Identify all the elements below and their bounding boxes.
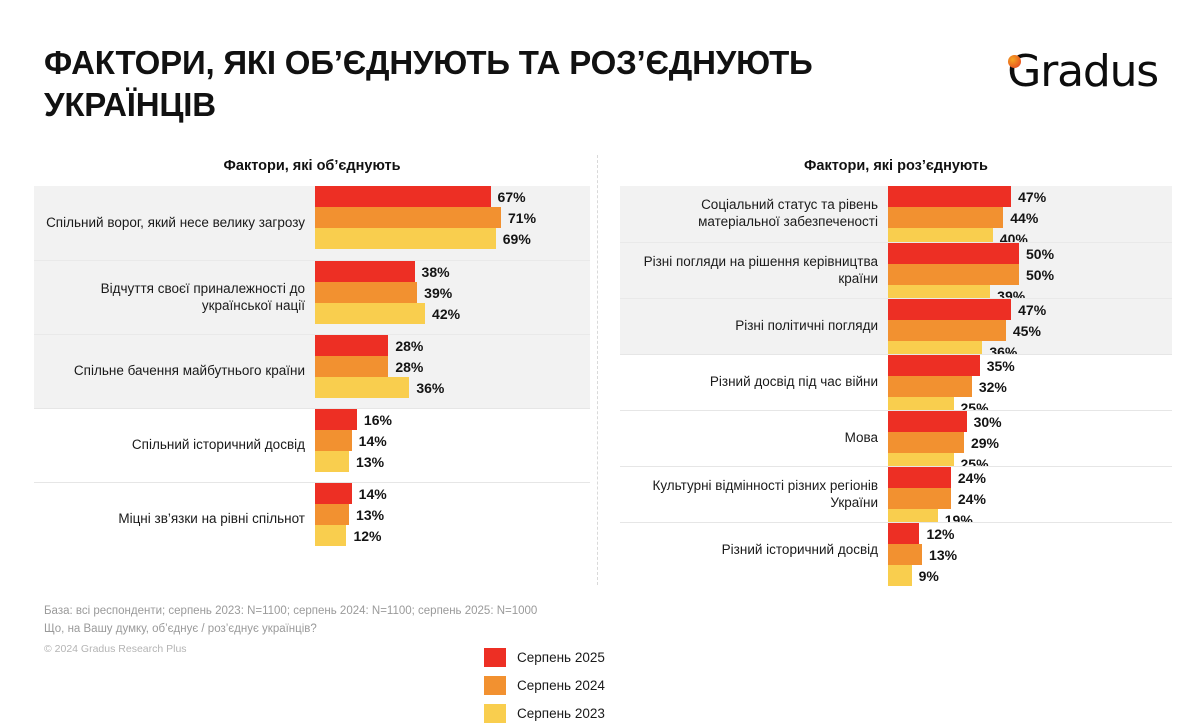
bar-value-label: 50% [1019, 267, 1054, 283]
bar-серпень-2023 [315, 228, 496, 249]
chart-row: Спільний ворог, який несе велику загрозу… [34, 186, 590, 260]
bar-value-label: 29% [964, 435, 999, 451]
bar-value-label: 13% [349, 507, 384, 523]
bar-серпень-2024 [888, 376, 972, 397]
bar-value-label: 28% [388, 359, 423, 375]
bar-line: 28% [315, 335, 590, 356]
bar-line: 13% [888, 544, 1172, 565]
bar-value-label: 39% [417, 285, 452, 301]
chart-row-bars: 35%32%25% [888, 355, 1172, 410]
chart-row: Спільний історичний досвід16%14%13% [34, 408, 590, 482]
bar-value-label: 14% [352, 486, 387, 502]
bar-серпень-2025 [888, 523, 919, 544]
bar-value-label: 38% [415, 264, 450, 280]
bar-line: 50% [888, 243, 1172, 264]
bar-серпень-2025 [888, 355, 980, 376]
bar-value-label: 67% [491, 189, 526, 205]
bar-line: 35% [888, 355, 1172, 376]
chart-rows-uniting: Спільний ворог, який несе велику загрозу… [34, 186, 590, 556]
bar-line: 47% [888, 186, 1172, 207]
bar-серпень-2024 [315, 282, 417, 303]
chart-row-bars: 47%45%36% [888, 299, 1172, 354]
bar-value-label: 69% [496, 231, 531, 247]
bar-line: 71% [315, 207, 590, 228]
bar-value-label: 47% [1011, 189, 1046, 205]
legend-label: Серпень 2023 [517, 706, 605, 721]
bar-серпень-2023 [315, 525, 346, 546]
chart-row: Різний історичний досвід12%13%9% [620, 522, 1172, 578]
bar-серпень-2024 [315, 504, 349, 525]
bar-line: 45% [888, 320, 1172, 341]
bar-line: 30% [888, 411, 1172, 432]
bar-серпень-2024 [888, 432, 964, 453]
bar-серпень-2024 [315, 430, 352, 451]
chart-row: Спільне бачення майбутнього країни28%28%… [34, 334, 590, 408]
bar-серпень-2024 [888, 488, 951, 509]
bar-серпень-2025 [888, 299, 1011, 320]
bar-line: 42% [315, 303, 590, 324]
bar-line: 14% [315, 430, 590, 451]
page-header: ФАКТОРИ, ЯКІ ОБ’ЄДНУЮТЬ ТА РОЗ’ЄДНУЮТЬ У… [0, 0, 1200, 140]
bar-value-label: 36% [409, 380, 444, 396]
bar-серпень-2024 [315, 356, 388, 377]
bar-серпень-2024 [888, 320, 1006, 341]
bar-line: 12% [315, 525, 590, 546]
chart-row-bars: 16%14%13% [315, 409, 590, 482]
bar-line: 44% [888, 207, 1172, 228]
bar-line: 47% [888, 299, 1172, 320]
footer-question-line: Що, на Вашу думку, об’єднує / роз’єднує … [44, 621, 537, 639]
chart-row-label: Спільний ворог, який несе велику загрозу [34, 215, 315, 232]
bar-line: 14% [315, 483, 590, 504]
bar-value-label: 50% [1019, 246, 1054, 262]
chart-row-bars: 28%28%36% [315, 335, 590, 408]
bar-line: 24% [888, 488, 1172, 509]
chart-row-bars: 47%44%40% [888, 186, 1172, 242]
bar-серпень-2025 [888, 411, 967, 432]
logo-wordmark: Gradus [1007, 50, 1158, 94]
chart-row-label: Різний історичний досвід [620, 542, 888, 559]
bar-серпень-2023 [315, 303, 425, 324]
panel-divider [597, 155, 598, 585]
chart-row-label: Спільний історичний досвід [34, 437, 315, 454]
chart-row-bars: 30%29%25% [888, 411, 1172, 466]
bar-серпень-2024 [888, 264, 1019, 285]
bar-серпень-2025 [315, 261, 415, 282]
bar-value-label: 44% [1003, 210, 1038, 226]
bar-line: 38% [315, 261, 590, 282]
chart-rows-dividing: Соціальний статус та рівень матеріальної… [620, 186, 1172, 578]
chart-row-bars: 50%50%39% [888, 243, 1172, 298]
legend-swatch-icon [484, 704, 506, 723]
chart-row: Різні політичні погляди47%45%36% [620, 298, 1172, 354]
chart-row-bars: 12%13%9% [888, 523, 1172, 578]
bar-value-label: 32% [972, 379, 1007, 395]
chart-row-bars: 67%71%69% [315, 186, 590, 260]
gradus-logo: Gradus [994, 38, 1158, 94]
chart-row-label: Відчуття своєї приналежності до українсь… [34, 281, 315, 315]
bar-серпень-2023 [315, 451, 349, 472]
bar-value-label: 28% [388, 338, 423, 354]
chart-row-label: Культурні відмінності різних регіонів Ук… [620, 478, 888, 512]
bar-value-label: 12% [919, 526, 954, 542]
chart-row: Відчуття своєї приналежності до українсь… [34, 260, 590, 334]
bar-line: 9% [888, 565, 1172, 586]
chart-row-label: Різні політичні погляди [620, 318, 888, 335]
legend-label: Серпень 2024 [517, 678, 605, 693]
bar-серпень-2024 [888, 207, 1003, 228]
bar-value-label: 71% [501, 210, 536, 226]
bar-line: 12% [888, 523, 1172, 544]
bar-value-label: 24% [951, 470, 986, 486]
legend-item[interactable]: Серпень 2023 [484, 704, 605, 723]
chart-row-label: Соціальний статус та рівень матеріальної… [620, 197, 888, 231]
bar-серпень-2025 [888, 467, 951, 488]
bar-line: 69% [315, 228, 590, 249]
bar-value-label: 42% [425, 306, 460, 322]
chart-row-bars: 24%24%19% [888, 467, 1172, 522]
footer-copyright: © 2024 Gradus Research Plus [44, 641, 537, 657]
chart-title-dividing: Фактори, які роз’єднують [620, 158, 1172, 176]
chart-row-bars: 38%39%42% [315, 261, 590, 334]
bar-серпень-2023 [888, 565, 912, 586]
bar-серпень-2025 [315, 335, 388, 356]
chart-row-label: Різні погляди на рішення керівництва кра… [620, 254, 888, 288]
bar-value-label: 14% [352, 433, 387, 449]
bar-value-label: 24% [951, 491, 986, 507]
chart-row: Соціальний статус та рівень матеріальної… [620, 186, 1172, 242]
bar-серпень-2025 [315, 409, 357, 430]
bar-value-label: 13% [922, 547, 957, 563]
bar-line: 16% [315, 409, 590, 430]
bar-line: 28% [315, 356, 590, 377]
bar-line: 32% [888, 376, 1172, 397]
bar-value-label: 16% [357, 412, 392, 428]
chart-panel-dividing: Фактори, які роз’єднують Соціальний стат… [620, 158, 1172, 578]
chart-row: Культурні відмінності різних регіонів Ук… [620, 466, 1172, 522]
legend-item[interactable]: Серпень 2024 [484, 676, 605, 695]
bar-value-label: 30% [967, 414, 1002, 430]
chart-row: Різний досвід під час війни35%32%25% [620, 354, 1172, 410]
footer-base-line: База: всі респонденти; серпень 2023: N=1… [44, 603, 537, 621]
bar-серпень-2025 [888, 243, 1019, 264]
chart-row-label: Міцні зв’язки на рівні спільнот [34, 511, 315, 528]
chart-row-label: Спільне бачення майбутнього країни [34, 363, 315, 380]
chart-title-uniting: Фактори, які об’єднують [34, 158, 590, 176]
legend-uniting: Серпень 2025Серпень 2024Серпень 2023 [484, 648, 605, 723]
bar-line: 50% [888, 264, 1172, 285]
chart-panel-uniting: Фактори, які об’єднують Спільний ворог, … [34, 158, 590, 556]
bar-value-label: 45% [1006, 323, 1041, 339]
chart-row: Мова30%29%25% [620, 410, 1172, 466]
bar-серпень-2025 [315, 483, 352, 504]
bar-line: 36% [315, 377, 590, 398]
chart-row-label: Мова [620, 430, 888, 447]
chart-row: Різні погляди на рішення керівництва кра… [620, 242, 1172, 298]
bar-value-label: 12% [346, 528, 381, 544]
bar-line: 39% [315, 282, 590, 303]
bar-line: 24% [888, 467, 1172, 488]
bar-серпень-2023 [315, 377, 409, 398]
bar-line: 13% [315, 504, 590, 525]
bar-line: 29% [888, 432, 1172, 453]
page-title: ФАКТОРИ, ЯКІ ОБ’ЄДНУЮТЬ ТА РОЗ’ЄДНУЮТЬ У… [44, 42, 924, 126]
footer: База: всі респонденти; серпень 2023: N=1… [44, 603, 537, 657]
chart-row-label: Різний досвід під час війни [620, 374, 888, 391]
bar-value-label: 13% [349, 454, 384, 470]
bar-серпень-2025 [315, 186, 491, 207]
bar-value-label: 9% [912, 568, 939, 584]
chart-row: Міцні зв’язки на рівні спільнот14%13%12% [34, 482, 590, 556]
bar-серпень-2025 [888, 186, 1011, 207]
bar-line: 13% [315, 451, 590, 472]
bar-серпень-2024 [888, 544, 922, 565]
legend-swatch-icon [484, 676, 506, 695]
bar-серпень-2024 [315, 207, 501, 228]
bar-line: 67% [315, 186, 590, 207]
bar-value-label: 47% [1011, 302, 1046, 318]
chart-row-bars: 14%13%12% [315, 483, 590, 556]
bar-value-label: 35% [980, 358, 1015, 374]
